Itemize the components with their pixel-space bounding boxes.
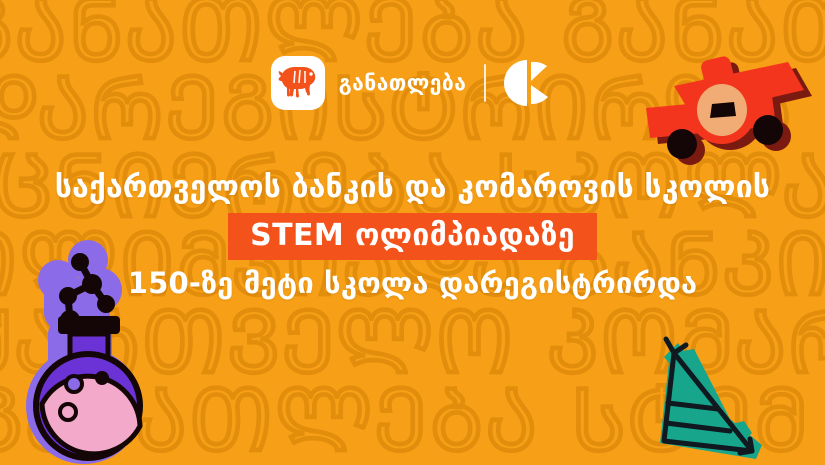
vertical-divider [484, 64, 486, 102]
komarovi-k-logo[interactable] [504, 58, 554, 108]
headline-highlight-line: STEM ოლიმპიადაზე [228, 213, 597, 260]
headline-block: საქართველოს ბანკის და კომაროვის სკოლის S… [0, 170, 825, 301]
stem-olympiad-banner: ᲒᲐᲜᲐᲗᲚᲔᲑᲐ ᲒᲐᲜᲐᲗᲚᲔᲑᲐ ᲒᲐᲜᲐ ᲓᲐᲠᲔᲒᲘᲡᲢᲠᲘᲠᲓᲐ Ს… [0, 0, 825, 465]
headline-highlight-wrapper: STEM ოლიმპიადაზე [0, 213, 825, 260]
bank-education-wordmark: განათლება [339, 73, 467, 94]
headline-line-1: საქართველოს ბანკის და კომაროვის სკოლის [0, 170, 825, 205]
bank-of-georgia-lion-logo[interactable] [271, 56, 325, 110]
logo-bar: განათლება [0, 52, 825, 114]
headline-line-3: 150-ზე მეტი სკოლა დარეგისტრირდა [0, 266, 825, 300]
